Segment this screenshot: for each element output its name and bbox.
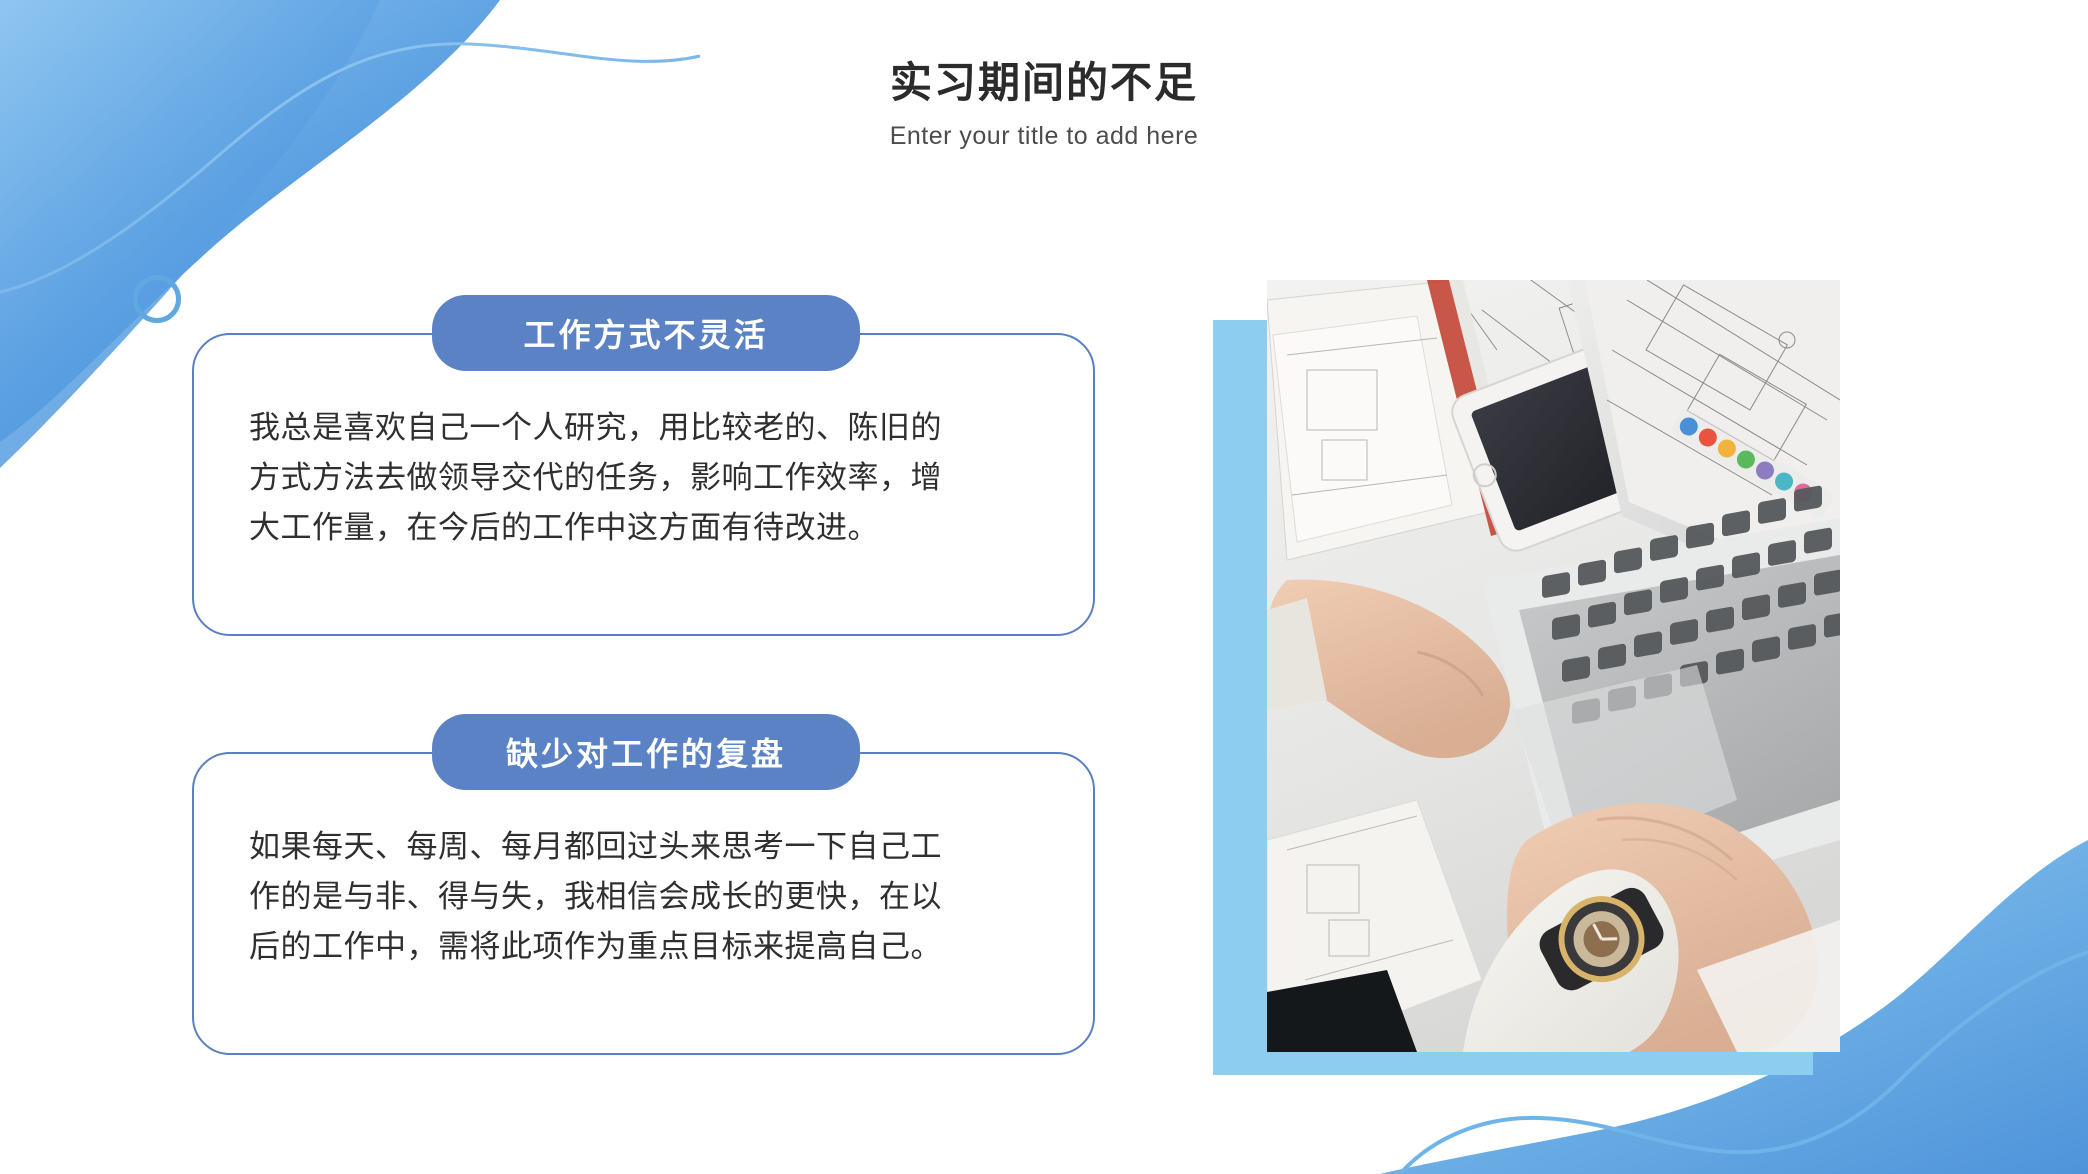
- page-title: 实习期间的不足: [0, 58, 2088, 108]
- card-1-line-2: 方式方法去做领导交代的任务，影响工作效率，增: [249, 453, 1048, 503]
- ring-circle-icon: [133, 275, 181, 323]
- card-2-line-1: 如果每天、每周、每月都回过头来思考一下自己工: [249, 822, 1048, 872]
- card-2-line-3: 后的工作中，需将此项作为重点目标来提高自己。: [249, 922, 1048, 972]
- content-card-1: 我总是喜欢自己一个人研究，用比较老的、陈旧的 方式方法去做领导交代的任务，影响工…: [192, 333, 1095, 636]
- card-2-body: 如果每天、每周、每月都回过头来思考一下自己工 作的是与非、得与失，我相信会成长的…: [249, 822, 1048, 973]
- card-1-line-3: 大工作量，在今后的工作中这方面有待改进。: [249, 503, 1048, 553]
- hands-typing-on-laptop-photo: [1267, 280, 1840, 1052]
- card-2-line-2: 作的是与非、得与失，我相信会成长的更快，在以: [249, 872, 1048, 922]
- card-1-line-1: 我总是喜欢自己一个人研究，用比较老的、陈旧的: [249, 403, 1048, 453]
- slide-header: 实习期间的不足 Enter your title to add here: [0, 58, 2088, 151]
- page-subtitle: Enter your title to add here: [0, 122, 2088, 151]
- content-card-2: 如果每天、每周、每月都回过头来思考一下自己工 作的是与非、得与失，我相信会成长的…: [192, 752, 1095, 1055]
- card-1-body: 我总是喜欢自己一个人研究，用比较老的、陈旧的 方式方法去做领导交代的任务，影响工…: [249, 403, 1048, 554]
- card-2-badge: 缺少对工作的复盘: [432, 714, 860, 790]
- card-1-badge: 工作方式不灵活: [432, 295, 860, 371]
- slide-root: 实习期间的不足 Enter your title to add here 我总是…: [0, 0, 2088, 1174]
